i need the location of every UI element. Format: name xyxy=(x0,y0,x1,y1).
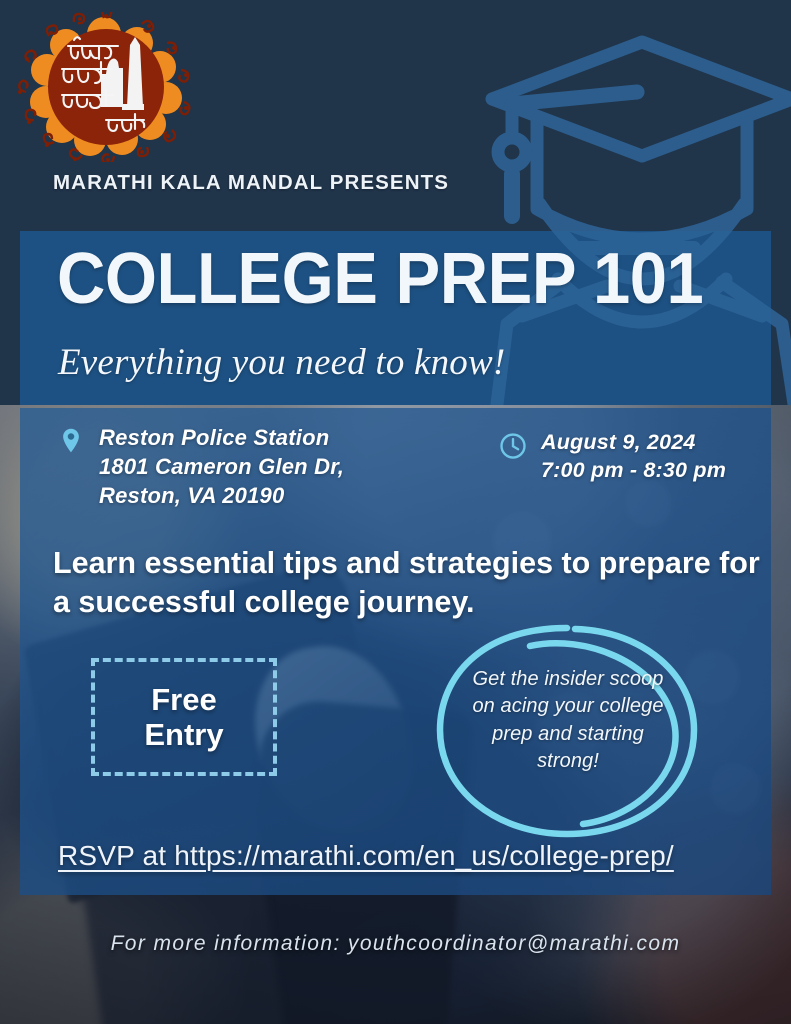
location-text: Reston Police Station 1801 Cameron Glen … xyxy=(99,423,344,510)
location-line-1: Reston Police Station xyxy=(99,423,344,452)
footer-contact: For more information: youthcoordinator@m… xyxy=(0,932,791,956)
free-entry-text: Free Entry xyxy=(144,682,223,752)
title-band: COLLEGE PREP 101 Everything you need to … xyxy=(20,231,771,406)
blue-overlay-panel: Reston Police Station 1801 Cameron Glen … xyxy=(20,408,771,895)
event-time: 7:00 pm - 8:30 pm xyxy=(541,456,726,484)
free-entry-badge: Free Entry xyxy=(91,658,277,776)
organization-logo xyxy=(14,12,194,162)
map-pin-icon xyxy=(56,426,86,456)
location-line-3: Reston, VA 20190 xyxy=(99,481,344,510)
event-details-row: Reston Police Station 1801 Cameron Glen … xyxy=(20,408,771,528)
page-title: COLLEGE PREP 101 xyxy=(57,243,703,315)
event-date: August 9, 2024 xyxy=(541,428,726,456)
datetime-detail: August 9, 2024 7:00 pm - 8:30 pm xyxy=(498,428,726,485)
rsvp-link[interactable]: RSVP at https://marathi.com/en_us/colleg… xyxy=(58,840,674,872)
presents-line: MARATHI KALA MANDAL PRESENTS xyxy=(53,171,449,195)
insider-callout: Get the insider scoop on acing your coll… xyxy=(435,618,700,843)
clock-icon xyxy=(498,431,528,461)
location-line-2: 1801 Cameron Glen Dr, xyxy=(99,452,344,481)
headline-text: Learn essential tips and strategies to p… xyxy=(53,544,773,623)
free-entry-line-2: Entry xyxy=(144,717,223,752)
photo-background-section: Reston Police Station 1801 Cameron Glen … xyxy=(0,405,791,1024)
callout-text: Get the insider scoop on acing your coll… xyxy=(463,666,673,776)
datetime-text: August 9, 2024 7:00 pm - 8:30 pm xyxy=(541,428,726,485)
free-entry-line-1: Free xyxy=(144,682,223,717)
event-flyer: MARATHI KALA MANDAL PRESENTS xyxy=(0,0,791,1024)
location-detail: Reston Police Station 1801 Cameron Glen … xyxy=(56,423,344,510)
page-subtitle: Everything you need to know! xyxy=(58,341,505,384)
